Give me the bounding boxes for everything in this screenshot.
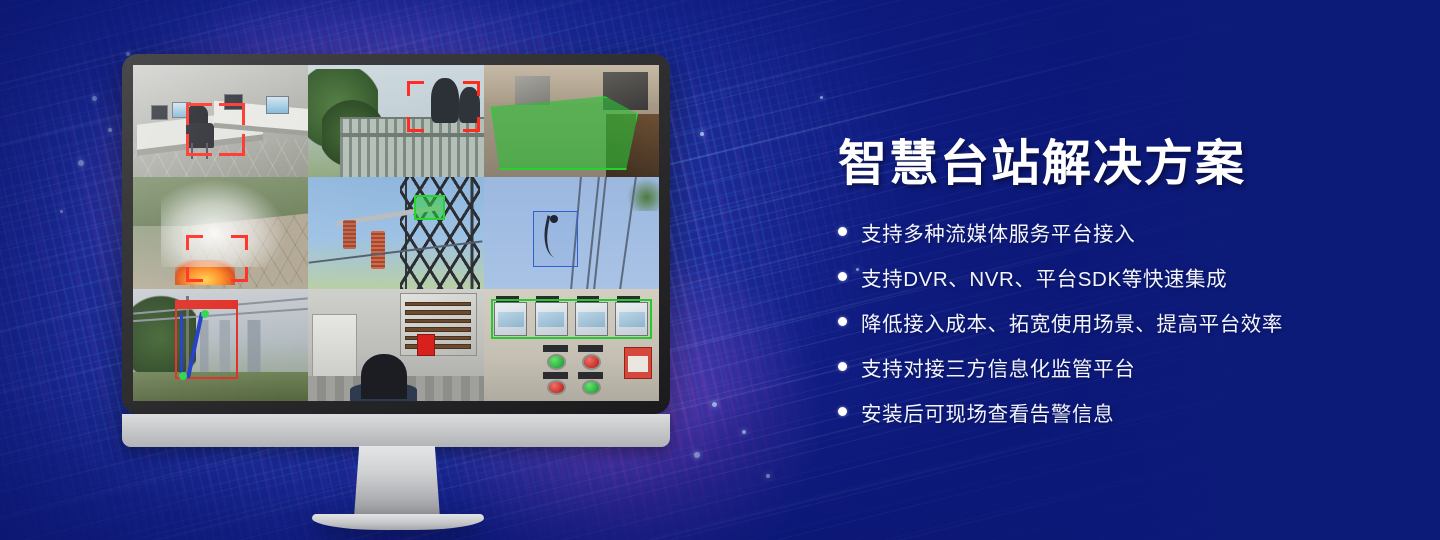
video-cell-control-panel[interactable] (484, 289, 659, 401)
video-cell-fire-smoke[interactable] (133, 177, 308, 289)
detection-bracket-tr (219, 103, 245, 125)
feature-label: 支持对接三方信息化监管平台 (861, 352, 1135, 382)
detection-bracket-bl (186, 134, 212, 156)
video-wall-grid (133, 65, 659, 401)
bullet-dot-icon (838, 362, 847, 371)
feature-item-5: 安装后可现场查看告警信息 (838, 397, 1398, 427)
feature-item-3: 降低接入成本、拓宽使用场景、提高平台效率 (838, 307, 1398, 337)
banner-content: 智慧台站解决方案 支持多种流媒体服务平台接入 支持DVR、NVR、平台SDK等快… (838, 138, 1398, 442)
video-cell-equipment-room[interactable] (308, 289, 483, 401)
fire-extinguisher-box (417, 334, 435, 356)
video-cell-crane-alert[interactable] (133, 289, 308, 401)
monitor-illustration (122, 54, 672, 494)
bullet-dot-icon (838, 227, 847, 236)
monitor-bezel (122, 54, 670, 414)
monitor-chin (122, 414, 670, 447)
feature-label: 支持多种流媒体服务平台接入 (861, 217, 1135, 247)
monitor-stand (354, 446, 440, 518)
feature-item-1: 支持多种流媒体服务平台接入 (838, 217, 1398, 247)
detection-bracket-tr (463, 81, 480, 96)
feature-label: 降低接入成本、拓宽使用场景、提高平台效率 (861, 307, 1283, 337)
detection-bracket-br (219, 134, 245, 156)
solution-banner: 智慧台站解决方案 支持多种流媒体服务平台接入 支持DVR、NVR、平台SDK等快… (0, 0, 1440, 540)
detection-bracket-tl (186, 103, 212, 125)
video-cell-equipment-yard[interactable] (484, 65, 659, 177)
bullet-dot-icon (838, 317, 847, 326)
feature-item-4: 支持对接三方信息化监管平台 (838, 352, 1398, 382)
bullet-dot-icon (838, 407, 847, 416)
feature-item-2: 支持DVR、NVR、平台SDK等快速集成 (838, 262, 1398, 292)
bullet-dot-icon (838, 272, 847, 281)
page-title: 智慧台站解决方案 (838, 138, 1398, 191)
meter-detection-box (491, 299, 652, 339)
detection-bracket-tr (231, 235, 248, 250)
video-cell-perimeter-fence[interactable] (308, 65, 483, 177)
foreign-object-box (533, 211, 579, 267)
detection-bracket-br (463, 117, 480, 132)
detection-bracket-bl (407, 117, 424, 132)
feature-list: 支持多种流媒体服务平台接入 支持DVR、NVR、平台SDK等快速集成 降低接入成… (838, 217, 1398, 427)
feature-label: 支持DVR、NVR、平台SDK等快速集成 (861, 262, 1227, 292)
component-detection-box (414, 195, 446, 220)
crane-detection-box (175, 307, 238, 379)
video-cell-control-room[interactable] (133, 65, 308, 177)
detection-bracket-tl (186, 235, 203, 250)
video-cell-transmission-tower[interactable] (308, 177, 483, 289)
detection-bracket-bl (186, 267, 203, 282)
detection-bracket-br (231, 267, 248, 282)
video-cell-power-line[interactable] (484, 177, 659, 289)
zone-polygon-overlay (491, 96, 638, 170)
detection-bracket-tl (407, 81, 424, 96)
feature-label: 安装后可现场查看告警信息 (861, 397, 1114, 427)
